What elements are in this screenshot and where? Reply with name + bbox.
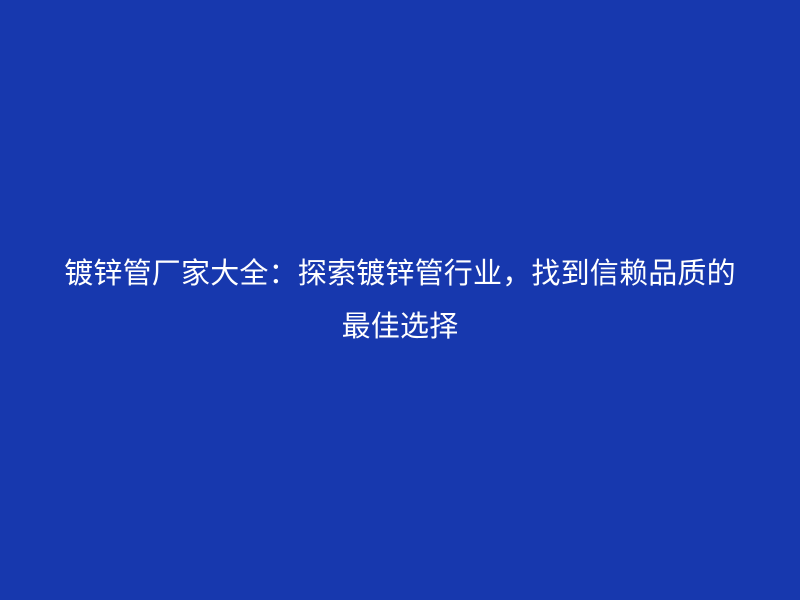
page-title: 镀锌管厂家大全：探索镀锌管行业，找到信赖品质的最佳选择 — [52, 247, 748, 353]
headline-wrapper: 镀锌管厂家大全：探索镀锌管行业，找到信赖品质的最佳选择 — [0, 247, 800, 353]
banner-container: 镀锌管厂家大全：探索镀锌管行业，找到信赖品质的最佳选择 — [0, 0, 800, 600]
